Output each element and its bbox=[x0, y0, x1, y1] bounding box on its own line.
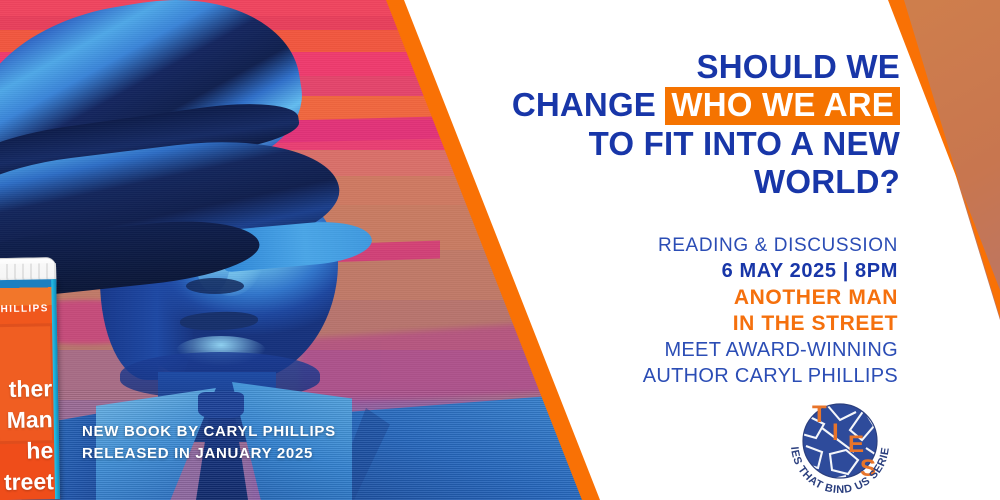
headline: SHOULD WE CHANGE WHO WE ARE TO FIT INTO … bbox=[500, 48, 900, 201]
book-cover-title-line-4: treet bbox=[0, 466, 54, 499]
headline-line-2: CHANGE WHO WE ARE bbox=[500, 86, 900, 125]
book-cover-title-line-2: Man bbox=[0, 404, 53, 437]
event-type-label: READING & DISCUSSION bbox=[498, 234, 898, 258]
headline-line-2-prefix: CHANGE bbox=[512, 86, 656, 123]
headline-line-1: SHOULD WE bbox=[500, 48, 900, 86]
book-cover-title-line-1: ther bbox=[0, 373, 52, 406]
book-front-cover: PHILLIPS ther Man he treet bbox=[0, 279, 60, 500]
headline-highlight: WHO WE ARE bbox=[665, 87, 900, 125]
event-details: READING & DISCUSSION 6 MAY 2025 | 8PM AN… bbox=[498, 234, 898, 389]
logo-letter-e: E bbox=[848, 431, 864, 458]
event-book-title-line-1: ANOTHER MAN bbox=[498, 285, 898, 311]
book-cover-author: PHILLIPS bbox=[0, 303, 57, 316]
logo-letter-t: T bbox=[812, 401, 827, 428]
book-cover-mockup: PHILLIPS ther Man he treet bbox=[0, 257, 60, 500]
photo-caption-line-2: RELEASED IN JANUARY 2025 bbox=[82, 443, 336, 465]
headline-line-4: WORLD? bbox=[500, 163, 900, 201]
event-datetime: 6 MAY 2025 | 8PM bbox=[498, 258, 898, 285]
photo-caption: NEW BOOK BY CARYL PHILLIPS RELEASED IN J… bbox=[82, 421, 336, 465]
book-cover-title-line-3: he bbox=[0, 435, 54, 468]
headline-line-3: TO FIT INTO A NEW bbox=[500, 125, 900, 163]
event-subtitle-line-2: AUTHOR CARYL PHILLIPS bbox=[498, 363, 898, 389]
logo-letter-i: I bbox=[832, 419, 839, 446]
event-book-title-line-2: IN THE STREET bbox=[498, 311, 898, 337]
event-promo-banner: PHILLIPS ther Man he treet NEW BOOK BY C… bbox=[0, 0, 1000, 500]
book-cover-title: ther Man he treet bbox=[0, 373, 60, 499]
photo-caption-line-1: NEW BOOK BY CARYL PHILLIPS bbox=[82, 421, 336, 443]
event-subtitle-line-1: MEET AWARD-WINNING bbox=[498, 337, 898, 363]
ties-series-logo: T I E S TIES THAT BIND US SERIES bbox=[778, 394, 902, 498]
